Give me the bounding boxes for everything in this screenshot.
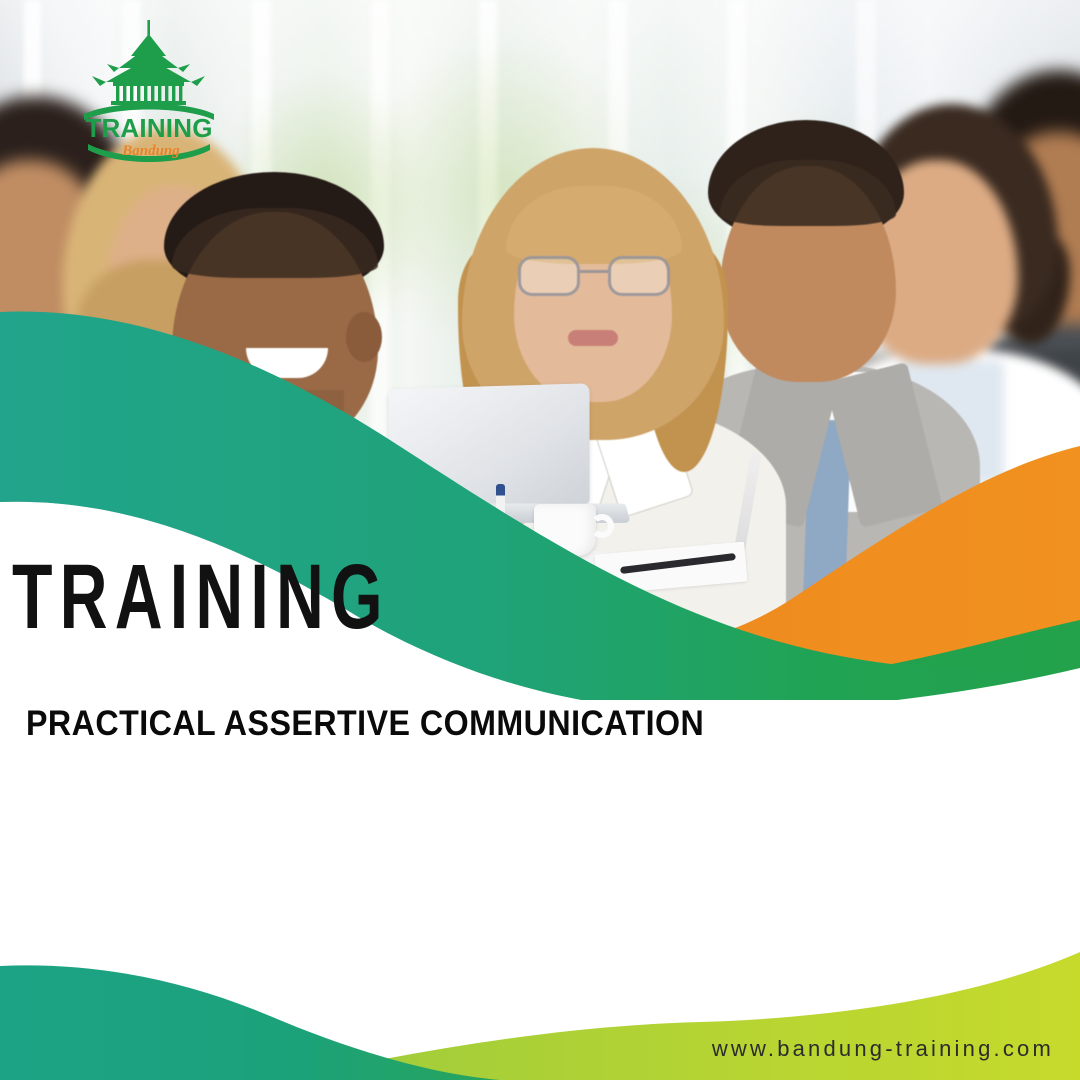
logo-subword: Bandung [121, 143, 180, 159]
course-title: PRACTICAL ASSERTIVE COMMUNICATION [26, 706, 704, 741]
poster-canvas: TRAINING Bandung TRAINING PRACTICAL ASSE… [0, 0, 1080, 1080]
page-title: TRAINING [12, 551, 390, 643]
training-bandung-logo[interactable]: TRAINING Bandung [74, 16, 224, 166]
logo-wordmark: TRAINING [85, 113, 212, 143]
website-url[interactable]: www.bandung-training.com [712, 1036, 1054, 1062]
